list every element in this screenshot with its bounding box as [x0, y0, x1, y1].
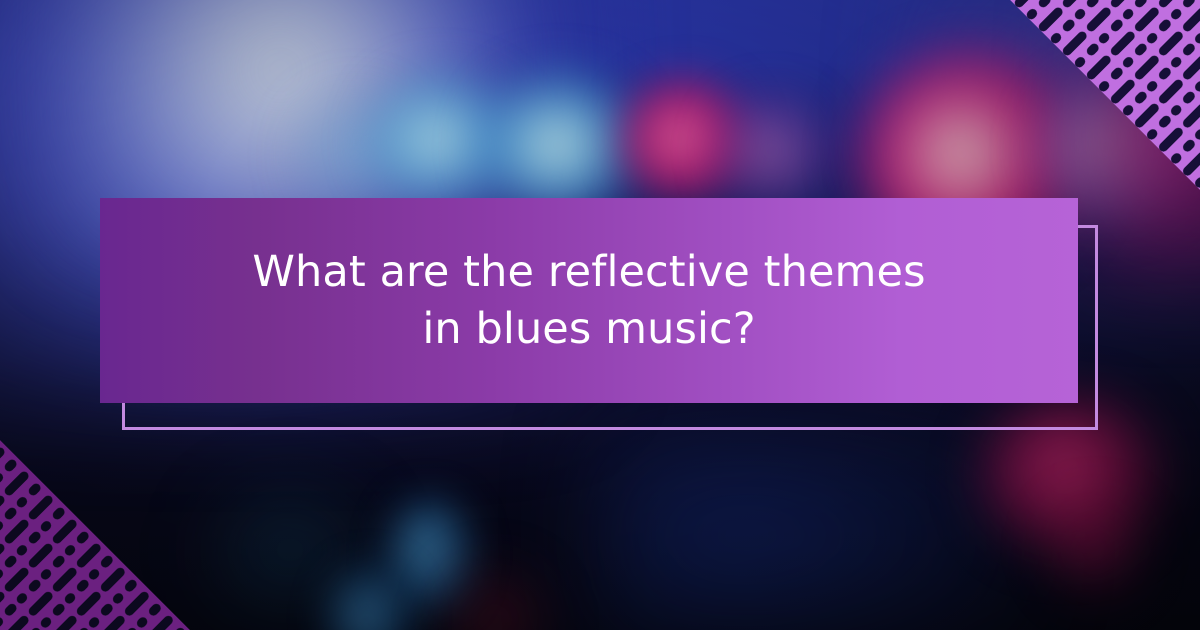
bottom-left-corner-decoration	[0, 440, 190, 630]
question-card: What are the reflective themes in blues …	[100, 198, 1078, 403]
question-card-graphic: What are the reflective themes in blues …	[0, 0, 1200, 630]
top-right-corner-decoration	[1010, 0, 1200, 190]
diagonal-dashes-corner-icon	[0, 440, 190, 630]
question-text: What are the reflective themes in blues …	[209, 244, 969, 358]
diagonal-dashes-corner-icon	[1010, 0, 1200, 190]
